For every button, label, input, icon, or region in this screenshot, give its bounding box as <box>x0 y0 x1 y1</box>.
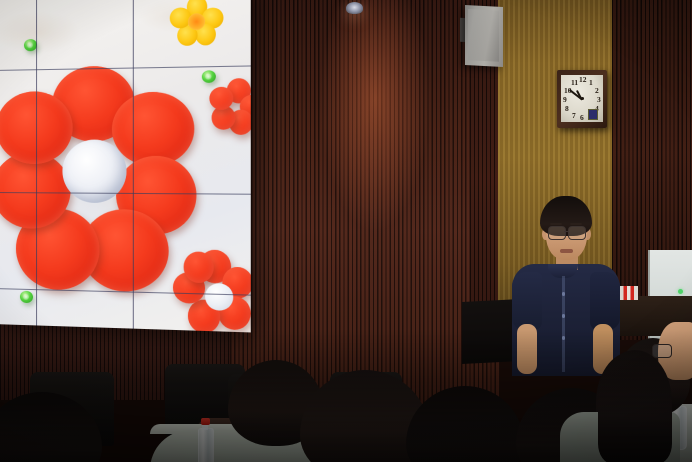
clock-numeral-6: 6 <box>580 114 584 122</box>
clock-date-window <box>588 109 598 120</box>
clock-numeral-9: 9 <box>563 96 567 104</box>
presenter-shirt-placket <box>562 276 565 372</box>
clock-numeral-11: 11 <box>571 79 578 87</box>
small-red-flower-bottom-center <box>205 283 233 311</box>
clock-numeral-8: 8 <box>565 105 569 113</box>
clock-numeral-2: 2 <box>595 87 599 95</box>
clock-face: 12 1 2 3 4 5 6 7 8 9 10 11 <box>561 75 603 122</box>
presenter-sleeve-left <box>512 272 542 330</box>
wall-speaker-box <box>465 5 503 67</box>
green-dot-3-graphic <box>20 291 33 303</box>
glasses-bridge <box>564 231 569 232</box>
audience-head-8b <box>598 350 672 462</box>
bottle-cap <box>201 418 210 425</box>
wall-clock: 12 1 2 3 4 5 6 7 8 9 10 11 <box>557 70 607 128</box>
whiteboard-magnet-icon <box>678 289 683 294</box>
large-red-flower-graphic <box>0 68 196 295</box>
presenter-sleeve-right <box>590 272 620 330</box>
presenter <box>498 196 628 376</box>
presenter-mouth <box>560 249 573 253</box>
yellow-flower-graphic <box>170 0 224 48</box>
led-video-wall[interactable] <box>0 0 251 332</box>
glasses-lens-left <box>548 226 566 240</box>
small-red-flower-right-graphic <box>212 78 251 135</box>
shirt-button-1 <box>562 292 566 296</box>
clock-center-pin <box>581 97 584 100</box>
presenter-eyebrow-left <box>550 223 562 225</box>
photo-scene: 12 1 2 3 4 5 6 7 8 9 10 11 <box>0 0 692 462</box>
clock-numeral-3: 3 <box>597 96 601 104</box>
led-bezel-vertical-1 <box>36 0 37 325</box>
led-bezel-vertical-2 <box>133 0 134 329</box>
presenter-arm-left <box>517 324 537 374</box>
shirt-button-3 <box>562 336 566 340</box>
small-red-flower-bottom-graphic <box>175 249 251 332</box>
audience-glasses-icon <box>652 344 672 358</box>
clock-numeral-12: 12 <box>579 76 587 84</box>
clock-numeral-1: 1 <box>589 79 593 87</box>
clock-numeral-7: 7 <box>572 112 576 120</box>
presenter-eyebrow-right <box>570 223 582 225</box>
ceiling-spotlight-icon <box>346 2 363 14</box>
shirt-button-2 <box>562 314 566 318</box>
spotlight-glow <box>280 0 470 330</box>
water-bottle-center <box>198 418 212 462</box>
bottle-body <box>198 428 214 462</box>
glasses-lens-right <box>568 226 586 240</box>
